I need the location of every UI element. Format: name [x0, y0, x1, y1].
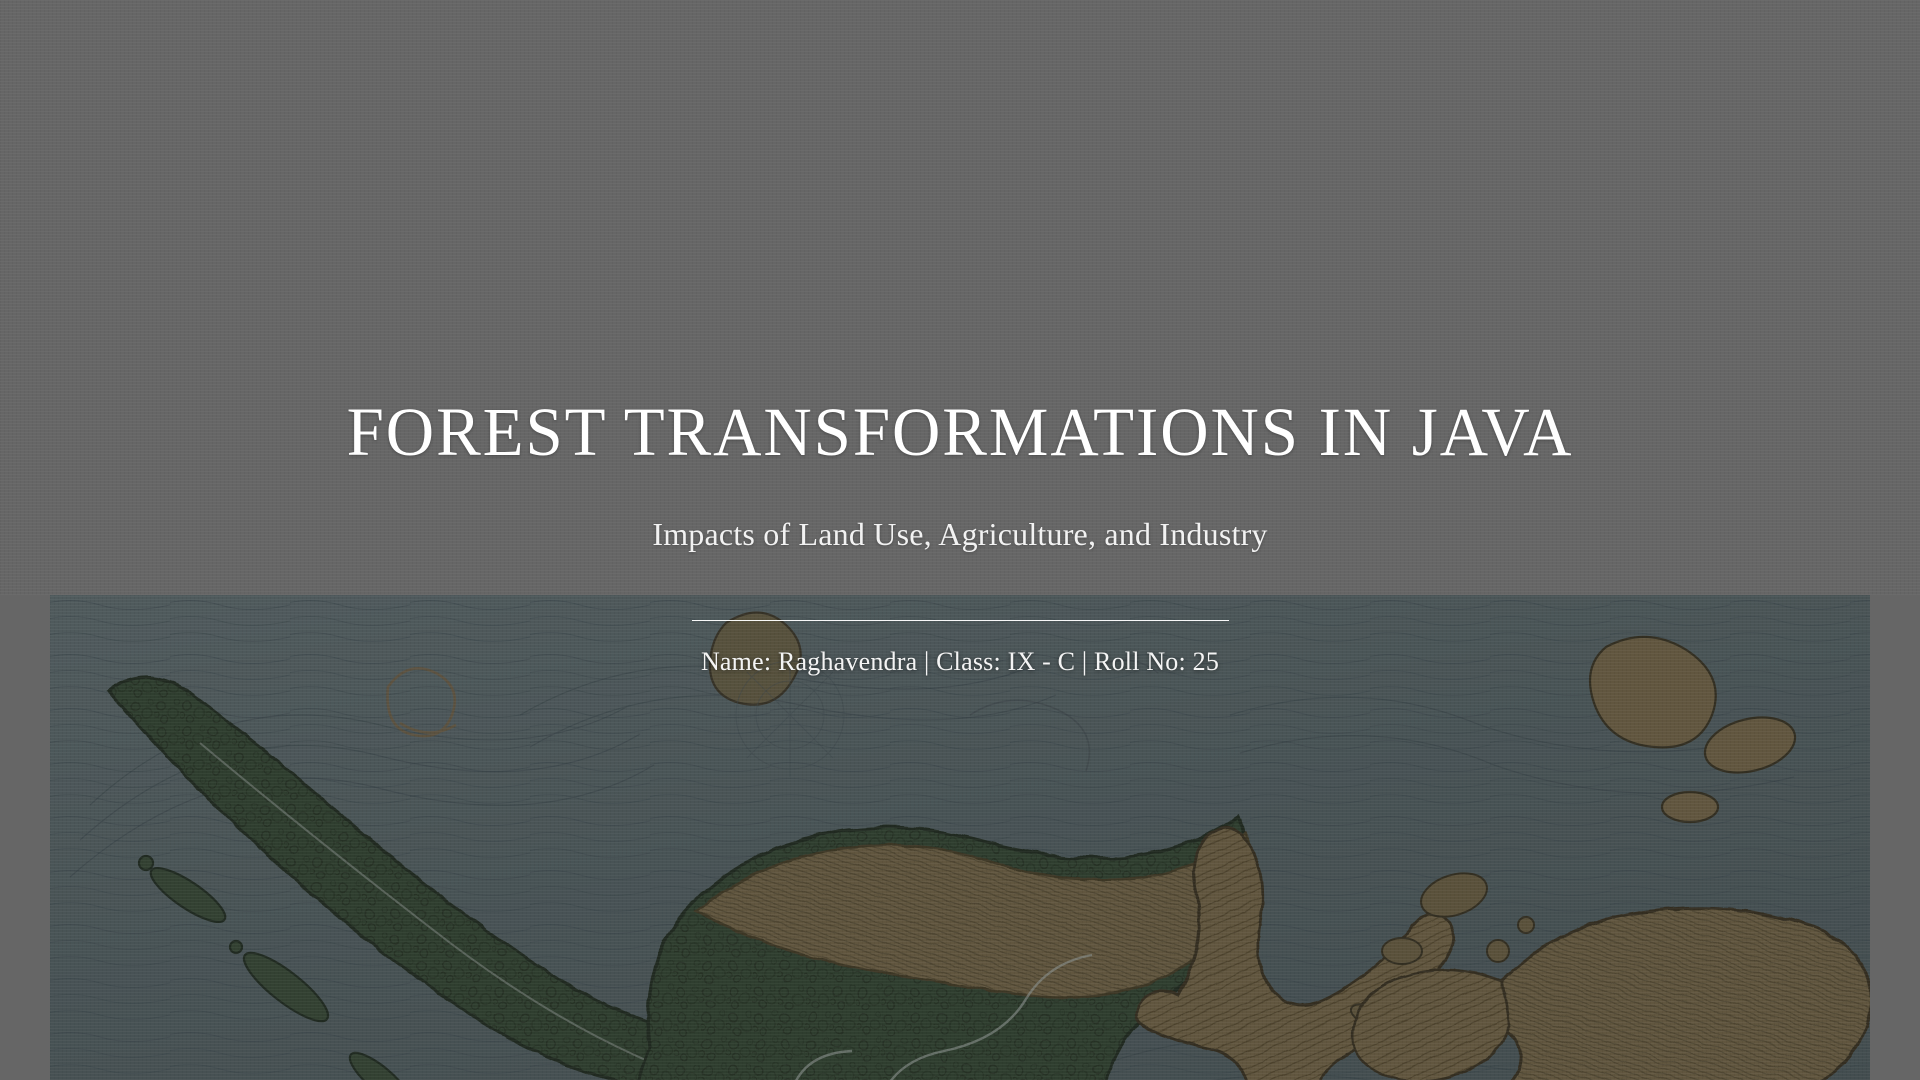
page-subtitle: Impacts of Land Use, Agriculture, and In… — [0, 515, 1920, 553]
author-credit-line: Name: Raghavendra | Class: IX - C | Roll… — [0, 645, 1920, 679]
page-title: Forest Transformations in Java — [29, 398, 1891, 467]
top-gray-overlay — [0, 0, 1920, 595]
title-divider-rule — [692, 620, 1229, 621]
top-overlay-grain — [0, 0, 1920, 595]
divider-wrap — [0, 620, 1920, 621]
title-slide: Forest Transformations in Java Impacts o… — [0, 0, 1920, 1080]
